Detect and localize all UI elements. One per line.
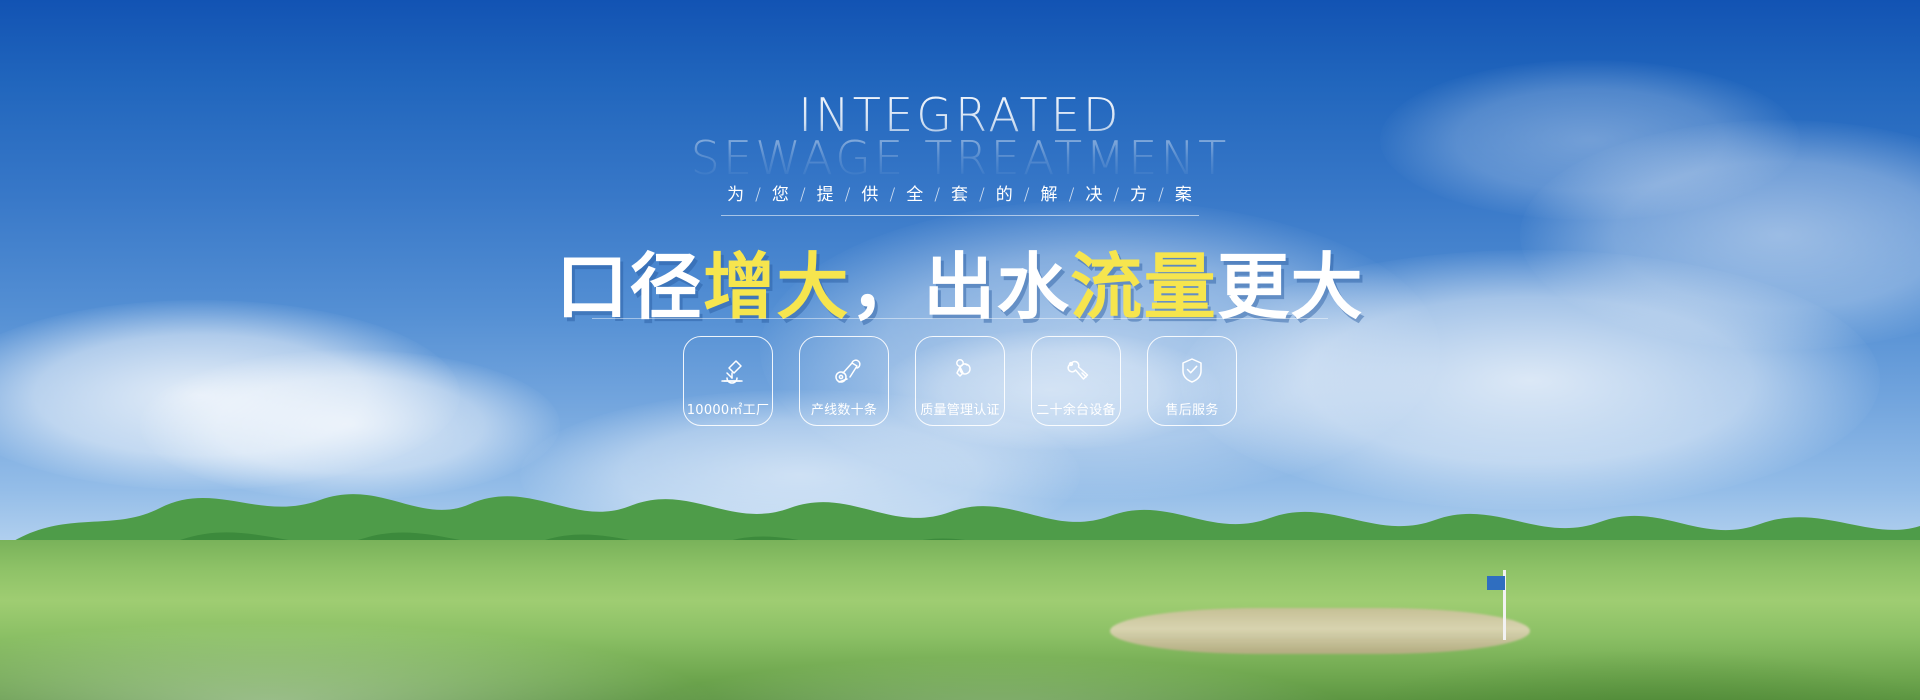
banner-content: INTEGRATED SEWAGE TREATMENT 为/您/提/供/全/套/… [0,0,1920,700]
subtitle-separator: / [800,185,807,205]
subtitle-row: 为/您/提/供/全/套/的/解/决/方/案 [0,180,1920,216]
headline-segment: 增大 [703,245,850,329]
subtitle-char: 方 [1130,185,1148,205]
subtitle-separator: / [934,185,941,205]
headline-segment: 出水 [923,245,1070,329]
subtitle-separator: / [889,185,896,205]
subtitle-separator: / [1158,185,1165,205]
english-title: INTEGRATED SEWAGE TREATMENT [0,92,1920,183]
subtitle-char: 案 [1175,185,1193,205]
feature-badge-label: 质量管理认证 [920,399,1000,418]
feature-badge-label: 10000㎡工厂 [687,399,769,418]
microscope-icon [710,351,746,387]
subtitle-chars: 为/您/提/供/全/套/的/解/决/方/案 [721,180,1199,216]
headline-segment: 更大 [1217,245,1364,329]
headline-segment: ， [850,245,923,329]
subtitle-char: 您 [772,185,790,205]
subtitle-char: 的 [996,185,1014,205]
subtitle-separator: / [979,185,986,205]
feature-badge-2[interactable]: 产线数十条 [799,336,889,426]
feature-badge-4[interactable]: 二十余台设备 [1031,336,1121,426]
wrench-machine-icon [1058,351,1094,387]
subtitle-char: 全 [906,185,924,205]
subtitle-separator: / [1069,185,1076,205]
subtitle-char: 套 [951,185,969,205]
feature-badge-label: 二十余台设备 [1036,399,1116,418]
subtitle-separator: / [1024,185,1031,205]
subtitle-char: 提 [817,185,835,205]
certificate-medal-icon [942,351,978,387]
subtitle-separator: / [845,185,852,205]
hero-banner: INTEGRATED SEWAGE TREATMENT 为/您/提/供/全/套/… [0,0,1920,700]
shield-check-icon [1174,351,1210,387]
subtitle-separator: / [755,185,762,205]
feature-badge-label: 产线数十条 [811,399,877,418]
headline-divider [592,318,1328,319]
headline-segment: 流量 [1070,245,1217,329]
subtitle-char: 为 [727,185,745,205]
subtitle-char: 供 [861,185,879,205]
feature-badge-3[interactable]: 质量管理认证 [915,336,1005,426]
subtitle-separator: / [1113,185,1120,205]
subtitle-char: 决 [1085,185,1103,205]
subtitle-char: 解 [1041,185,1059,205]
feature-badge-5[interactable]: 售后服务 [1147,336,1237,426]
feature-badge-1[interactable]: 10000㎡工厂 [683,336,773,426]
headline-segment: 口径 [556,245,703,329]
feature-badge-label: 售后服务 [1165,399,1218,418]
english-title-line2: SEWAGE TREATMENT [0,135,1920,182]
feature-badges: 10000㎡工厂产线数十条质量管理认证二十余台设备售后服务 [0,336,1920,426]
production-line-icon [826,351,862,387]
